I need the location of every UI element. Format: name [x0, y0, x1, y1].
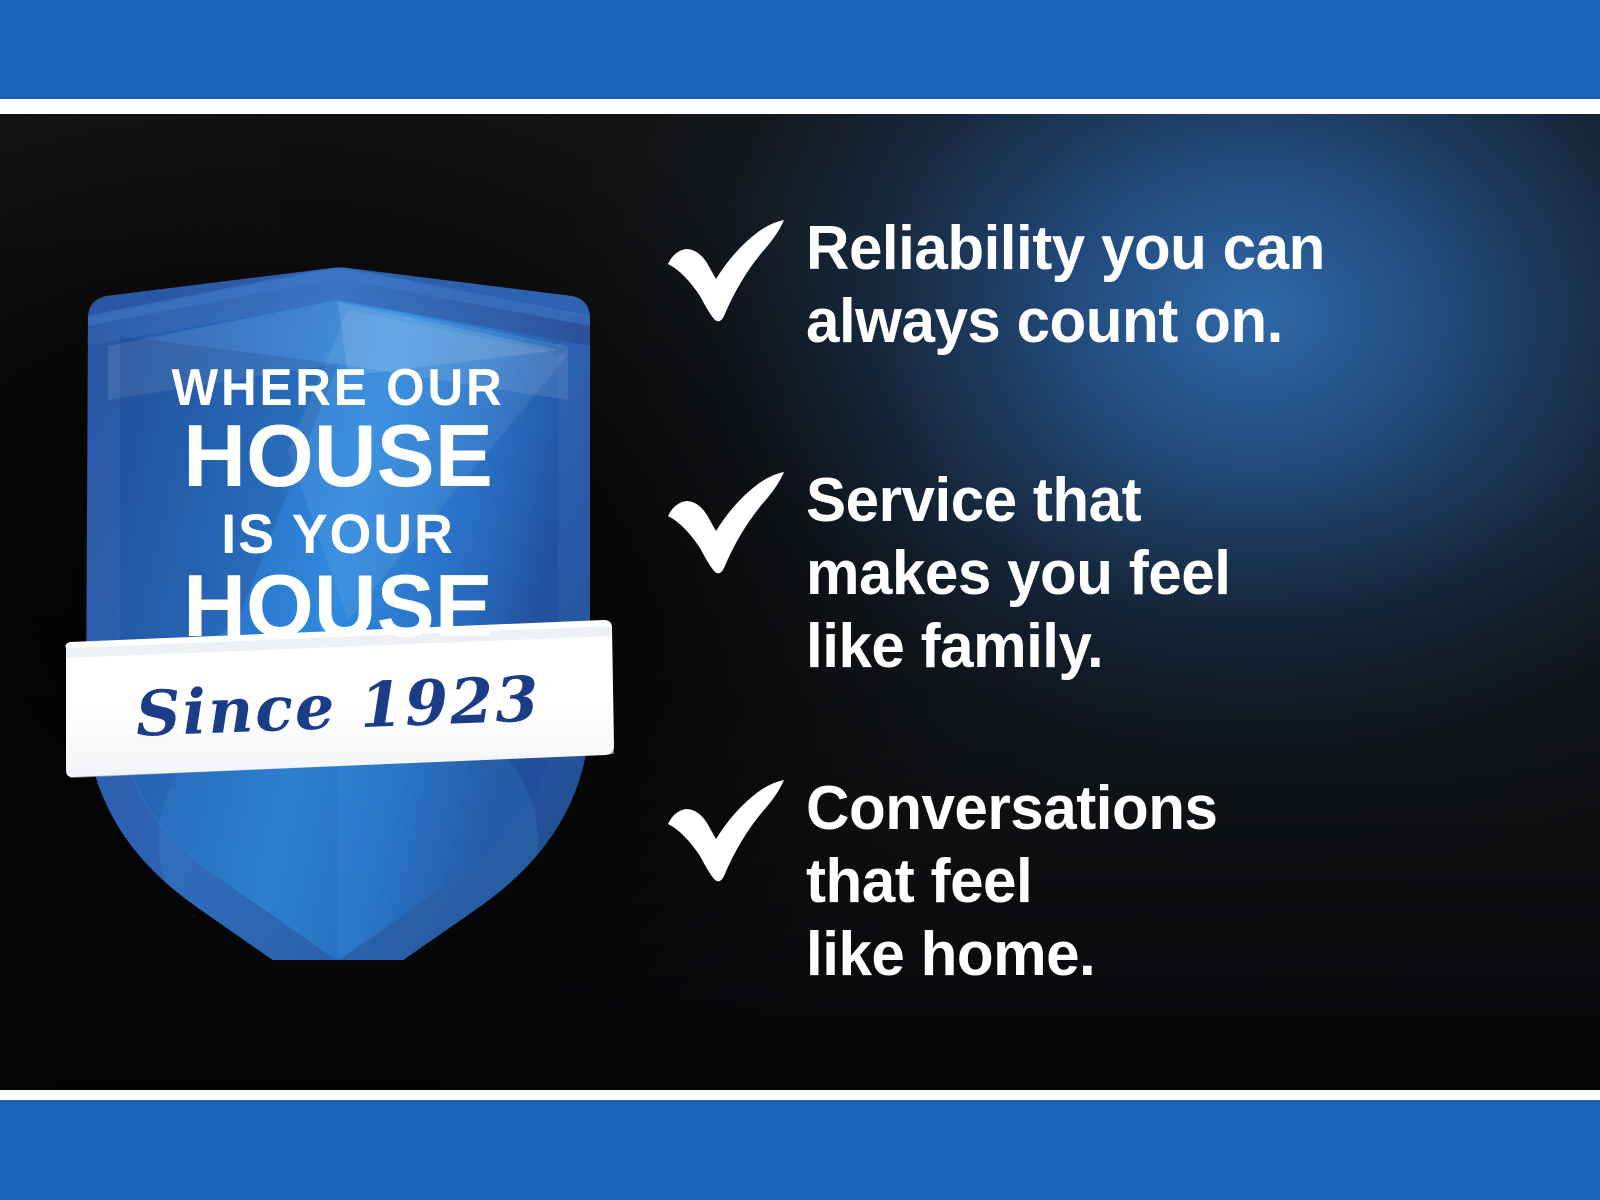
company-badge: WHERE OUR HOUSE IS YOUR HOUSE Since 1923 — [48, 150, 628, 960]
list-item: Conversations that feel like home. — [660, 772, 1540, 991]
benefits-list: Reliability you can always count on. Ser… — [660, 114, 1540, 1090]
since-ribbon — [66, 620, 615, 778]
top-white-divider — [0, 99, 1600, 114]
checkmark-icon — [660, 472, 792, 576]
checkmark-icon — [660, 780, 792, 884]
checkmark-icon — [660, 220, 792, 324]
list-item: Reliability you can always count on. — [660, 212, 1540, 358]
promo-poster: WHERE OUR HOUSE IS YOUR HOUSE Since 1923… — [0, 0, 1600, 1200]
list-item-label: Reliability you can always count on. — [806, 212, 1325, 358]
list-item-label: Conversations that feel like home. — [806, 772, 1217, 991]
list-item-label: Service that makes you feel like family. — [806, 464, 1230, 683]
top-brand-bar — [0, 0, 1600, 99]
bottom-brand-bar — [0, 1100, 1600, 1200]
list-item: Service that makes you feel like family. — [660, 464, 1540, 683]
bottom-white-divider — [0, 1090, 1600, 1100]
